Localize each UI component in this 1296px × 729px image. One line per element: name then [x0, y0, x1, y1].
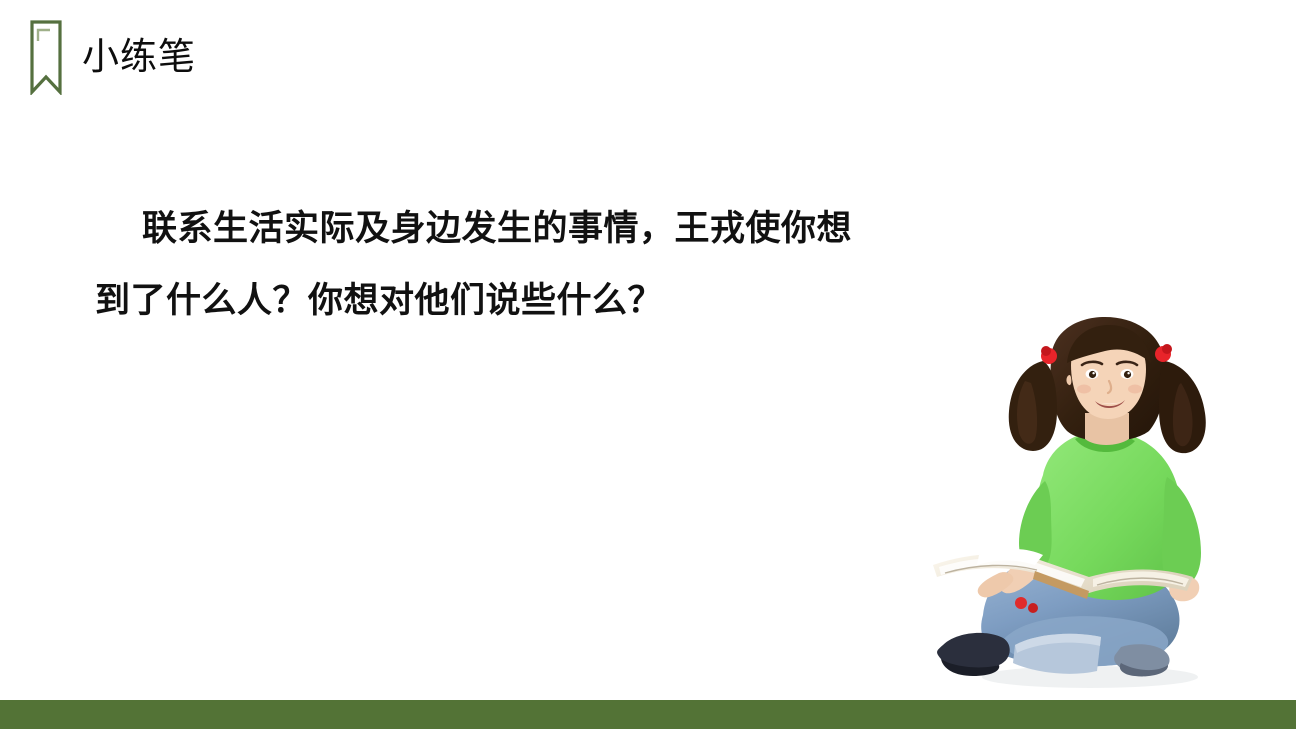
bookmark-ribbon-icon	[29, 19, 63, 95]
footer-bar	[0, 700, 1296, 729]
girl-reading-photo	[925, 315, 1235, 700]
slide-canvas: 小练笔 联系生活实际及身边发生的事情，王戎使你想 到了什么人？你想对他们说些什么…	[0, 0, 1296, 729]
body-text-block: 联系生活实际及身边发生的事情，王戎使你想 到了什么人？你想对他们说些什么？	[95, 193, 955, 337]
slide-header: 小练笔	[0, 0, 600, 110]
body-line-2: 到了什么人？你想对他们说些什么？	[95, 265, 955, 337]
page-title: 小练笔	[82, 36, 196, 77]
body-line-1: 联系生活实际及身边发生的事情，王戎使你想	[95, 193, 955, 265]
